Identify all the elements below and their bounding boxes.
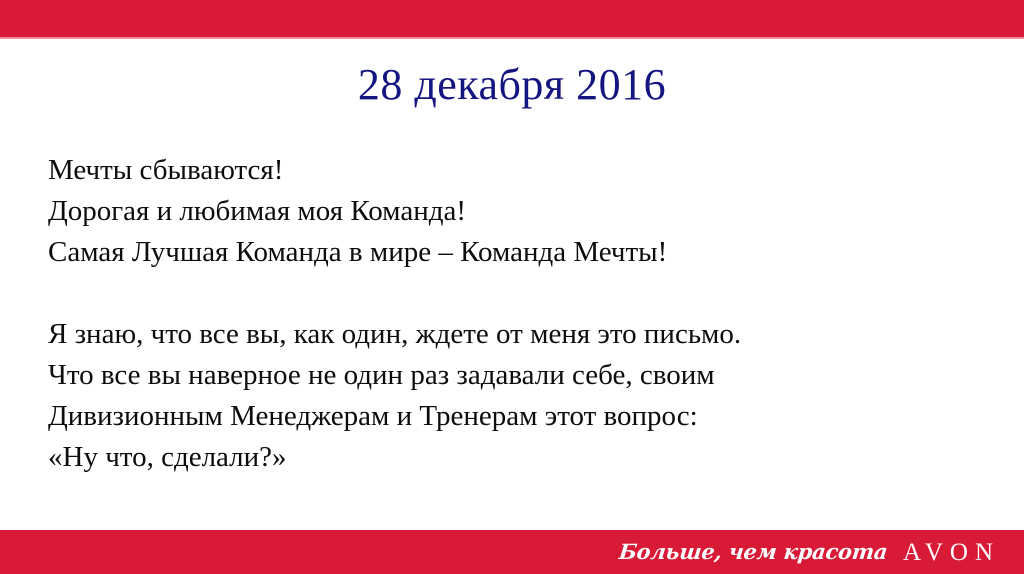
brand-lockup: Больше, чем красота AVON bbox=[619, 530, 1002, 574]
paragraph-message: Я знаю, что все вы, как один, ждете от м… bbox=[48, 314, 978, 478]
body-line: Дорогая и любимая моя Команда! bbox=[48, 191, 978, 232]
brand-tagline: Больше, чем красота bbox=[617, 541, 888, 564]
body-line: «Ну что, сделали?» bbox=[48, 437, 978, 478]
paragraph-greeting: Мечты сбываются! Дорогая и любимая моя К… bbox=[48, 150, 978, 273]
top-accent-band-hairline bbox=[0, 37, 1024, 39]
body-line: Что все вы наверное не один раз задавали… bbox=[48, 355, 978, 396]
avon-logo: AVON bbox=[903, 540, 1002, 565]
body-line: Я знаю, что все вы, как один, ждете от м… bbox=[48, 314, 978, 355]
body-line: Дивизионным Менеджерам и Тренерам этот в… bbox=[48, 396, 978, 437]
bottom-brand-band: Больше, чем красота AVON bbox=[0, 530, 1024, 574]
paragraph-spacer bbox=[48, 273, 978, 314]
top-accent-band bbox=[0, 0, 1024, 37]
page-title: 28 декабря 2016 bbox=[0, 58, 1024, 112]
body-line: Самая Лучшая Команда в мире – Команда Ме… bbox=[48, 232, 978, 273]
body-line: Мечты сбываются! bbox=[48, 150, 978, 191]
slide-body-text: Мечты сбываются! Дорогая и любимая моя К… bbox=[48, 150, 978, 478]
presentation-slide: 28 декабря 2016 Мечты сбываются! Дорогая… bbox=[0, 0, 1024, 574]
